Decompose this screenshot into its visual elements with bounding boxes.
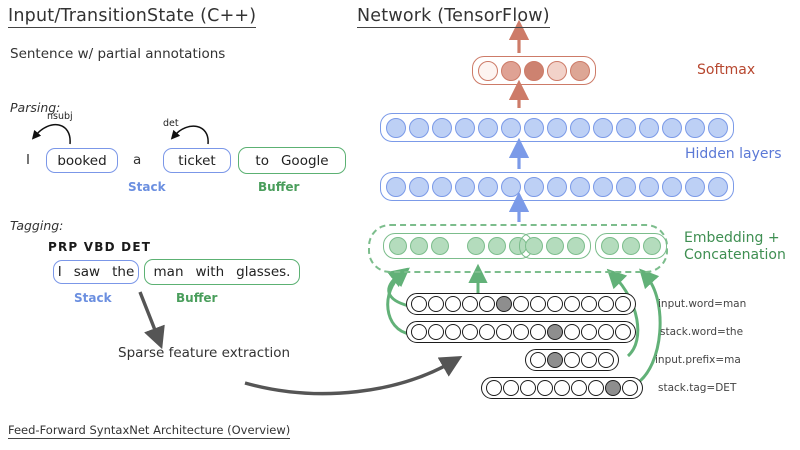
embedding-side-label: Embedding + Concatenation xyxy=(684,230,786,264)
sparse-row-3-node-2-active xyxy=(547,352,563,368)
hidden-2-node-15 xyxy=(708,177,728,197)
sparse-row-2-node-12 xyxy=(598,324,614,340)
sparse-row-1-node-13 xyxy=(615,296,631,312)
tagging-word-I: I xyxy=(52,264,68,280)
parsing-buffer-box[interactable]: to Google xyxy=(238,147,346,174)
tagging-word-with: with xyxy=(190,264,231,280)
embedding-g3-node-2 xyxy=(622,237,640,255)
hidden-2-node-8 xyxy=(547,177,567,197)
sparse-row-4-node-1 xyxy=(486,380,502,396)
softmax-node-4 xyxy=(547,61,567,81)
hidden-1-node-9 xyxy=(570,118,590,138)
sparse-row-3-node-4 xyxy=(581,352,597,368)
hidden-1-node-6 xyxy=(501,118,521,138)
parsing-token-ticket: ticket xyxy=(172,153,221,169)
embedding-g1-node-2 xyxy=(410,237,428,255)
sparse-row-2-node-3 xyxy=(445,324,461,340)
arrow-to-sparse-extraction xyxy=(140,292,158,338)
tagging-word-saw: saw xyxy=(68,264,106,280)
softmax-node-3 xyxy=(524,61,544,81)
arc-label-det: det xyxy=(163,118,179,129)
parsing-token-I: I xyxy=(26,152,30,168)
hidden-1-node-14 xyxy=(685,118,705,138)
parsing-stack-box-2[interactable]: ticket xyxy=(163,148,231,173)
sparse-feature-row-2[interactable] xyxy=(406,321,636,343)
hidden-1-node-1 xyxy=(386,118,406,138)
dependency-arc-det xyxy=(174,126,208,144)
sparse-feature-row-1[interactable] xyxy=(406,293,636,315)
sparse-row-3-node-3 xyxy=(564,352,580,368)
parsing-buffer-label: Buffer xyxy=(258,180,299,194)
embedding-g1-node-5 xyxy=(488,237,506,255)
sparse-row-4-node-8-active xyxy=(605,380,621,396)
sparse-row-1-node-11 xyxy=(581,296,597,312)
hidden-1-node-4 xyxy=(455,118,475,138)
tagging-label: Tagging: xyxy=(10,218,63,233)
sparse-row-4-node-4 xyxy=(537,380,553,396)
softmax-node-1 xyxy=(478,61,498,81)
arrow-feature-row-4-to-embedding xyxy=(636,276,660,384)
tagging-word-man: man xyxy=(148,264,190,280)
embedding-group-1[interactable] xyxy=(383,233,533,259)
hidden-1-node-13 xyxy=(662,118,682,138)
sparse-feature-label-1: input.word=man xyxy=(658,298,746,310)
softmax-node-5 xyxy=(570,61,590,81)
hidden-2-node-14 xyxy=(685,177,705,197)
sparse-feature-row-4[interactable] xyxy=(481,377,643,399)
hidden-1-node-5 xyxy=(478,118,498,138)
arrow-feature-row-3-to-embedding xyxy=(614,276,638,356)
sparse-row-2-node-7 xyxy=(513,324,529,340)
hidden-2-node-13 xyxy=(662,177,682,197)
hidden-2-node-5 xyxy=(478,177,498,197)
tagging-buffer-label: Buffer xyxy=(176,291,217,305)
hidden-2-node-6 xyxy=(501,177,521,197)
sparse-row-1-node-12 xyxy=(598,296,614,312)
embedding-g3-node-1 xyxy=(601,237,619,255)
parsing-token-Google: Google xyxy=(275,153,335,169)
hidden-2-node-4 xyxy=(455,177,475,197)
sparse-row-1-node-3 xyxy=(445,296,461,312)
embedding-label-line-2: Concatenation xyxy=(684,247,786,264)
softmax-node-2 xyxy=(501,61,521,81)
sparse-row-2-node-2 xyxy=(428,324,444,340)
sparse-row-1-node-1 xyxy=(411,296,427,312)
parsing-stack-box[interactable]: booked xyxy=(46,148,118,173)
embedding-group-3[interactable] xyxy=(595,233,667,259)
parsing-token-booked: booked xyxy=(51,153,112,169)
embedding-g1-node-1 xyxy=(389,237,407,255)
hidden-1-node-7 xyxy=(524,118,544,138)
sparse-row-4-node-6 xyxy=(571,380,587,396)
tagging-stack-label: Stack xyxy=(74,291,112,305)
sparse-row-1-node-10 xyxy=(564,296,580,312)
sparse-row-1-node-2 xyxy=(428,296,444,312)
tagging-buffer-box[interactable]: man with glasses. xyxy=(144,259,300,285)
embedding-g2-node-2 xyxy=(546,237,564,255)
right-section-title: Network (TensorFlow) xyxy=(357,6,550,28)
hidden-1-node-15 xyxy=(708,118,728,138)
sparse-feature-row-3[interactable] xyxy=(525,349,619,371)
sparse-row-3-node-5 xyxy=(598,352,614,368)
sparse-feature-label-3: input.prefix=ma xyxy=(655,354,741,366)
parsing-stack-label: Stack xyxy=(128,180,166,194)
sparse-row-4-node-7 xyxy=(588,380,604,396)
hidden-2-node-9 xyxy=(570,177,590,197)
hidden-2-node-1 xyxy=(386,177,406,197)
hidden-2-node-11 xyxy=(616,177,636,197)
sparse-row-1-node-5 xyxy=(479,296,495,312)
hidden-2-node-2 xyxy=(409,177,429,197)
sparse-row-4-node-2 xyxy=(503,380,519,396)
hidden-2-node-3 xyxy=(432,177,452,197)
dependency-arc-nsubj xyxy=(35,125,70,144)
parsing-token-to: to xyxy=(249,153,275,169)
sparse-row-2-node-8 xyxy=(530,324,546,340)
hidden-1-node-10 xyxy=(593,118,613,138)
sparse-row-1-node-7 xyxy=(513,296,529,312)
diagram-canvas: Input/TransitionState (C++) Sentence w/ … xyxy=(0,0,800,450)
sparse-row-2-node-6 xyxy=(496,324,512,340)
tagging-word-the: the xyxy=(106,264,140,280)
arrow-to-feature-rows xyxy=(245,362,452,394)
sparse-row-4-node-9 xyxy=(622,380,638,396)
left-section-title: Input/TransitionState (C++) xyxy=(8,6,256,28)
sparse-row-1-node-9 xyxy=(547,296,563,312)
sparse-row-1-node-4 xyxy=(462,296,478,312)
sparse-row-2-node-11 xyxy=(581,324,597,340)
sparse-row-2-node-9-active xyxy=(547,324,563,340)
hidden-1-node-11 xyxy=(616,118,636,138)
sparse-row-2-node-1 xyxy=(411,324,427,340)
embedding-g2-node-1 xyxy=(525,237,543,255)
sparse-row-4-node-5 xyxy=(554,380,570,396)
sparse-row-2-node-5 xyxy=(479,324,495,340)
sparse-extraction-label: Sparse feature extraction xyxy=(118,345,290,361)
tagging-stack-box[interactable]: I saw the xyxy=(53,260,139,284)
figure-caption: Feed-Forward SyntaxNet Architecture (Ove… xyxy=(8,423,290,439)
hidden-layer-2[interactable] xyxy=(380,172,734,201)
softmax-side-label: Softmax xyxy=(697,62,755,79)
arc-label-nsubj: nsubj xyxy=(47,111,73,122)
hidden-1-node-8 xyxy=(547,118,567,138)
sparse-row-2-node-4 xyxy=(462,324,478,340)
hidden-2-node-12 xyxy=(639,177,659,197)
tagging-word-glasses: glasses. xyxy=(230,264,296,280)
sparse-feature-label-4: stack.tag=DET xyxy=(658,382,736,394)
sparse-row-1-node-6-active xyxy=(496,296,512,312)
hidden-layers-side-label: Hidden layers xyxy=(685,146,782,163)
subtitle-text: Sentence w/ partial annotations xyxy=(10,46,225,62)
hidden-2-node-7 xyxy=(524,177,544,197)
embedding-g2-node-3 xyxy=(567,237,585,255)
parsing-token-a: a xyxy=(133,152,141,168)
embedding-g3-node-3 xyxy=(643,237,661,255)
sparse-row-3-node-1 xyxy=(530,352,546,368)
hidden-1-node-12 xyxy=(639,118,659,138)
embedding-group-2[interactable] xyxy=(519,233,591,259)
hidden-layer-1[interactable] xyxy=(380,113,734,142)
sparse-row-1-node-8 xyxy=(530,296,546,312)
sparse-row-4-node-3 xyxy=(520,380,536,396)
embedding-g1-node-3 xyxy=(431,237,449,255)
sparse-row-2-node-13 xyxy=(615,324,631,340)
hidden-1-node-2 xyxy=(409,118,429,138)
sparse-feature-label-2: stack.word=the xyxy=(660,326,743,338)
embedding-label-line-1: Embedding + xyxy=(684,230,786,247)
softmax-layer[interactable] xyxy=(472,56,596,85)
hidden-1-node-3 xyxy=(432,118,452,138)
hidden-2-node-10 xyxy=(593,177,613,197)
embedding-g1-node-4 xyxy=(467,237,485,255)
tagging-tags: PRP VBD DET xyxy=(48,240,151,254)
sparse-row-2-node-10 xyxy=(564,324,580,340)
